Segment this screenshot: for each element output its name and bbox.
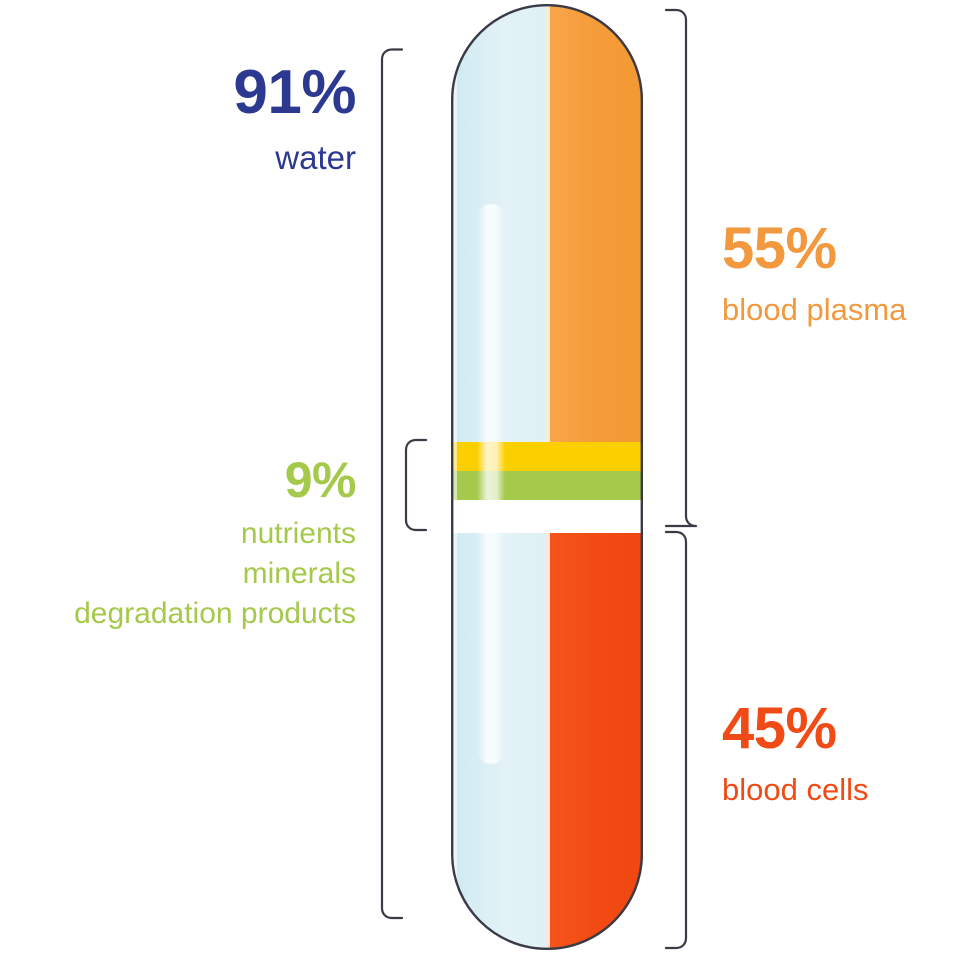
band-blood-cells	[548, 533, 643, 950]
test-tube	[451, 4, 643, 950]
bracket-blood-cells	[664, 524, 698, 956]
label-blood-cells-percent: 45%	[722, 696, 837, 761]
bracket-blood-plasma	[664, 4, 698, 532]
label-nutrients-line1: nutrients	[10, 519, 356, 549]
label-water-text: water	[60, 141, 356, 174]
label-nutrients-percent: 9%	[285, 452, 356, 508]
tube-divider	[545, 4, 550, 442]
label-nutrients: 9% nutrients minerals degradation produc…	[10, 455, 356, 629]
infographic-canvas: 91% water 9% nutrients minerals degradat…	[0, 0, 960, 960]
label-blood-plasma-percent: 55%	[722, 216, 837, 281]
label-blood-plasma: 55% blood plasma	[722, 220, 906, 325]
tube-highlight	[477, 204, 505, 764]
label-blood-cells: 45% blood cells	[722, 700, 868, 805]
label-nutrients-line3: degradation products	[10, 599, 356, 629]
bracket-nutrients	[398, 438, 428, 532]
label-nutrients-line2: minerals	[10, 559, 356, 589]
band-blood-plasma	[548, 4, 643, 442]
label-blood-plasma-text: blood plasma	[722, 294, 906, 325]
label-water-percent: 91%	[233, 58, 356, 127]
label-water: 91% water	[60, 62, 356, 174]
label-blood-cells-text: blood cells	[722, 774, 868, 805]
